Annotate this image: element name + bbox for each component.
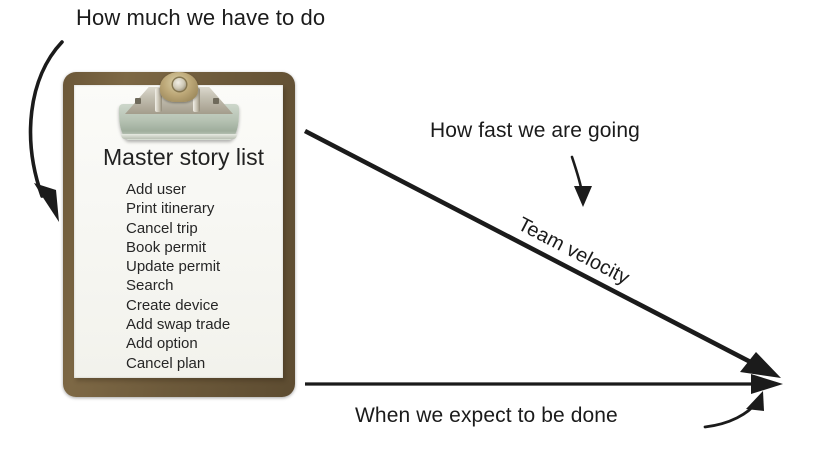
clipboard: Master story list Add user Print itinera… <box>63 72 295 397</box>
diagram-canvas: Master story list Add user Print itinera… <box>0 0 819 456</box>
story-list-heading: Master story list <box>103 144 264 171</box>
annotation-how-fast-we-are-going: How fast we are going <box>430 119 640 143</box>
list-item: Print itinerary <box>126 199 230 218</box>
list-item: Cancel trip <box>126 219 230 238</box>
list-item: Add user <box>126 180 230 199</box>
clip-notch-right <box>213 98 219 104</box>
annotation-how-much-we-have-to-do: How much we have to do <box>76 5 325 31</box>
list-item: Book permit <box>126 238 230 257</box>
list-item: Add swap trade <box>126 315 230 334</box>
clip-notch-left <box>135 98 141 104</box>
how-much-curved-arrow <box>31 42 62 222</box>
story-list: Add user Print itinerary Cancel trip Boo… <box>126 180 230 373</box>
list-item: Add option <box>126 334 230 353</box>
list-item: Create device <box>126 296 230 315</box>
how-fast-down-arrow <box>572 157 592 207</box>
annotation-when-we-expect-to-be-done: When we expect to be done <box>355 404 618 428</box>
team-velocity-line <box>305 131 781 378</box>
when-done-curved-arrow <box>705 391 764 427</box>
clip-rivet <box>173 78 186 91</box>
list-item: Search <box>126 276 230 295</box>
time-axis-arrow <box>305 374 783 394</box>
list-item: Cancel plan <box>126 354 230 373</box>
list-item: Update permit <box>126 257 230 276</box>
clipboard-clip-icon <box>111 58 247 140</box>
